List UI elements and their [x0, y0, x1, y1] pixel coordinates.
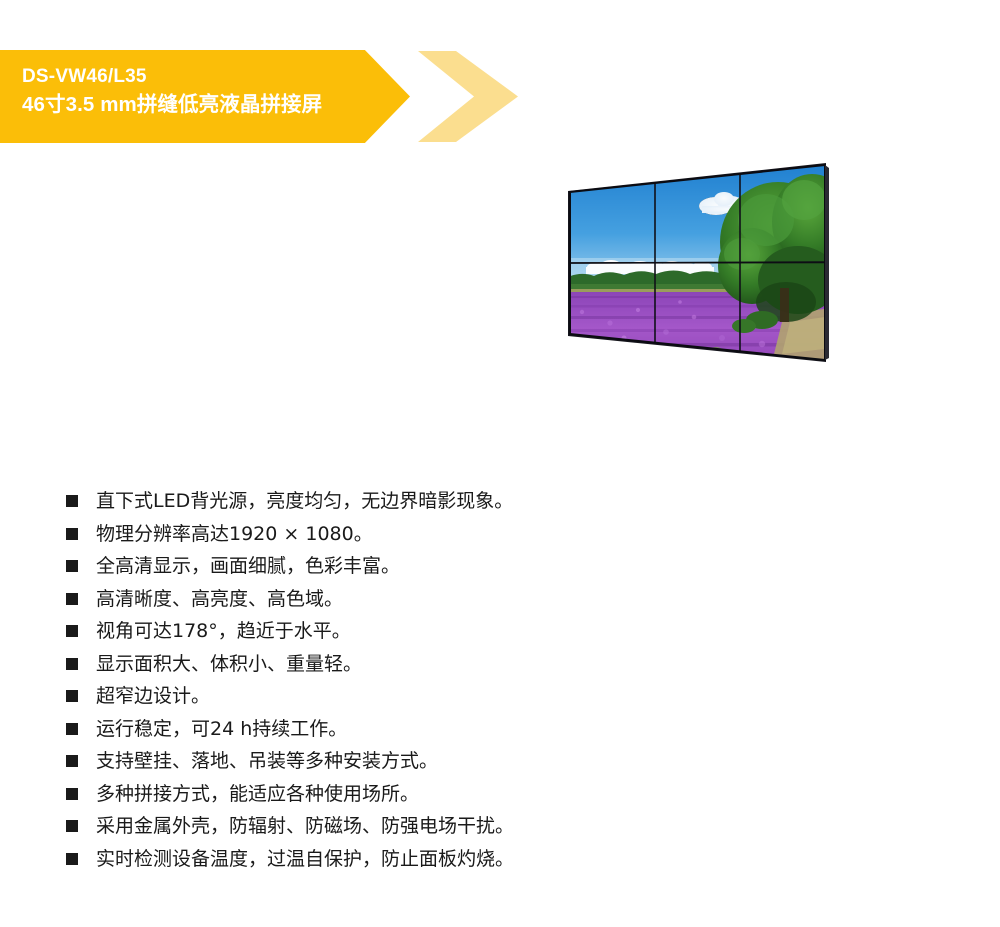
list-item: 显示面积大、体积小、重量轻。: [66, 651, 706, 684]
feature-text: 物理分辨率高达1920 × 1080。: [96, 521, 373, 547]
list-item: 多种拼接方式，能适应各种使用场所。: [66, 781, 706, 814]
bullet-square-icon: [66, 658, 78, 670]
feature-text: 实时检测设备温度，过温自保护，防止面板灼烧。: [96, 846, 514, 872]
bullet-square-icon: [66, 690, 78, 702]
feature-text: 支持壁挂、落地、吊装等多种安装方式。: [96, 748, 438, 774]
list-item: 全高清显示，画面细腻，色彩丰富。: [66, 553, 706, 586]
list-item: 物理分辨率高达1920 × 1080。: [66, 521, 706, 554]
bullet-square-icon: [66, 820, 78, 832]
bullet-square-icon: [66, 723, 78, 735]
video-wall-product-image: [566, 162, 832, 367]
list-item: 超窄边设计。: [66, 683, 706, 716]
video-wall-illustration: [566, 162, 832, 367]
list-item: 实时检测设备温度，过温自保护，防止面板灼烧。: [66, 846, 706, 879]
feature-text: 直下式LED背光源，亮度均匀，无边界暗影现象。: [96, 488, 513, 514]
banner-chevron-icon: [418, 51, 518, 142]
feature-text: 运行稳定，可24 h持续工作。: [96, 716, 347, 742]
panel-seam-horizontal: [570, 263, 825, 264]
product-header-banner: DS-VW46/L35 46寸3.5 mm拼缝低亮液晶拼接屏: [0, 50, 520, 143]
list-item: 高清晰度、高亮度、高色域。: [66, 586, 706, 619]
bullet-square-icon: [66, 625, 78, 637]
bullet-square-icon: [66, 560, 78, 572]
feature-text: 超窄边设计。: [96, 683, 210, 709]
bullet-square-icon: [66, 528, 78, 540]
feature-text: 视角可达178°，趋近于水平。: [96, 618, 351, 644]
wall-side-edge: [825, 165, 829, 360]
feature-text: 全高清显示，画面细腻，色彩丰富。: [96, 553, 400, 579]
bullet-square-icon: [66, 755, 78, 767]
feature-text: 高清晰度、高亮度、高色域。: [96, 586, 343, 612]
bullet-square-icon: [66, 853, 78, 865]
feature-text: 显示面积大、体积小、重量轻。: [96, 651, 362, 677]
list-item: 直下式LED背光源，亮度均匀，无边界暗影现象。: [66, 488, 706, 521]
list-item: 运行稳定，可24 h持续工作。: [66, 716, 706, 749]
bullet-square-icon: [66, 593, 78, 605]
list-item: 视角可达178°，趋近于水平。: [66, 618, 706, 651]
wall-screen-content: [566, 162, 832, 367]
list-item: 支持壁挂、落地、吊装等多种安装方式。: [66, 748, 706, 781]
feature-text: 采用金属外壳，防辐射、防磁场、防强电场干扰。: [96, 813, 514, 839]
list-item: 采用金属外壳，防辐射、防磁场、防强电场干扰。: [66, 813, 706, 846]
bullet-square-icon: [66, 495, 78, 507]
bullet-square-icon: [66, 788, 78, 800]
feature-text: 多种拼接方式，能适应各种使用场所。: [96, 781, 419, 807]
product-subtitle: 46寸3.5 mm拼缝低亮液晶拼接屏: [22, 90, 322, 120]
banner-text-group: DS-VW46/L35 46寸3.5 mm拼缝低亮液晶拼接屏: [22, 64, 322, 120]
feature-list: 直下式LED背光源，亮度均匀，无边界暗影现象。 物理分辨率高达1920 × 10…: [66, 488, 706, 878]
product-model-title: DS-VW46/L35: [22, 64, 322, 90]
